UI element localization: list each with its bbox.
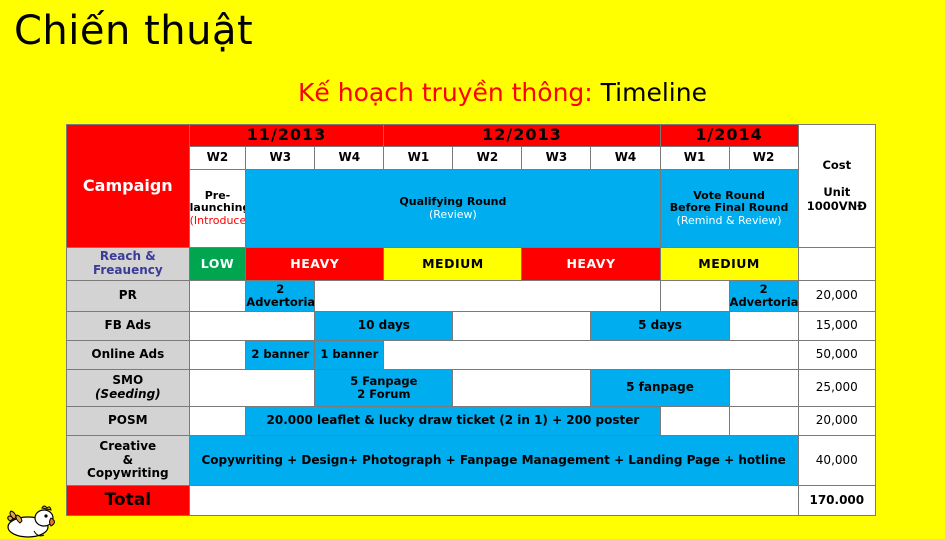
smo-cell-mid-empty [453, 370, 591, 407]
table-row: SMO (Seeding) 5 Fanpage 2 Forum 5 fanpag… [67, 370, 876, 407]
row-label-reach-frequency: Reach & Freauency [67, 248, 190, 281]
total-empty-cell [189, 486, 798, 516]
subtitle-vietnamese: Kế hoạch truyền thông: [298, 78, 593, 107]
smo-label-line2: (Seeding) [67, 388, 189, 402]
pr-cell-w2-nov [189, 281, 246, 312]
reach-frequency-line1: Reach & [67, 250, 189, 264]
month-header-11-2013: 11/2013 [189, 125, 384, 147]
media-plan-timeline-table: Campaign 11/2013 12/2013 1/2014 Cost Uni… [66, 124, 876, 516]
month-header-12-2013: 12/2013 [384, 125, 660, 147]
cost-online-ads: 50,000 [798, 341, 875, 370]
phase-vote-round-name2: Before Final Round [661, 202, 798, 215]
posm-cell-end-empty-2 [729, 407, 798, 436]
creative-label-line2: & [67, 454, 189, 468]
table-row: POSM 20.000 leaflet & lucky draw ticket … [67, 407, 876, 436]
month-header-1-2014: 1/2014 [660, 125, 798, 147]
frequency-cell-low: LOW [189, 248, 246, 281]
campaign-header-cell: Campaign [67, 125, 190, 248]
posm-bar-leaflet: 20.000 leaflet & lucky draw ticket (2 in… [246, 407, 660, 436]
phase-qualifying-round: Qualifying Round (Review) [246, 170, 660, 248]
cost-fb-ads: 15,000 [798, 312, 875, 341]
row-label-fb-ads: FB Ads [67, 312, 190, 341]
week-header-5: W3 [522, 147, 591, 170]
smo-bar-5-fanpage: 5 fanpage [591, 370, 729, 407]
month-header-row: Campaign 11/2013 12/2013 1/2014 Cost Uni… [67, 125, 876, 147]
pr-cell-mid-empty [315, 281, 660, 312]
week-header-4: W2 [453, 147, 522, 170]
online-cell-end-empty [384, 341, 798, 370]
phase-vote-round-sub: (Remind & Review) [661, 215, 798, 228]
pr-cell-w1-jan [660, 281, 729, 312]
chicken-icon [4, 505, 62, 539]
row-label-online-ads: Online Ads [67, 341, 190, 370]
table-row: FB Ads 10 days 5 days 15,000 [67, 312, 876, 341]
week-header-3: W1 [384, 147, 453, 170]
week-header-6: W4 [591, 147, 660, 170]
phase-pre-launching: Pre-launching (Introduce) [189, 170, 246, 248]
total-label: Total [67, 486, 190, 516]
cost-creative-copywriting: 40,000 [798, 436, 875, 486]
fb-cell-start-empty [189, 312, 315, 341]
creative-bar-full: Copywriting + Design+ Photograph + Fanpa… [189, 436, 798, 486]
frequency-cell-heavy-2: HEAVY [522, 248, 660, 281]
campaign-header-label: Campaign [67, 177, 189, 195]
week-header-0: W2 [189, 147, 246, 170]
week-header-2: W4 [315, 147, 384, 170]
week-header-8: W2 [729, 147, 798, 170]
reach-frequency-line2: Freauency [67, 264, 189, 278]
phase-qualifying-round-sub: (Review) [246, 209, 659, 222]
row-label-creative-copywriting: Creative & Copywriting [67, 436, 190, 486]
cost-header-title: Cost [799, 159, 875, 172]
fb-bar-5-days: 5 days [591, 312, 729, 341]
reach-frequency-row: Reach & Freauency LOW HEAVY MEDIUM HEAVY… [67, 248, 876, 281]
table-row: Online Ads 2 banner 1 banner 50,000 [67, 341, 876, 370]
online-bar-2-banner: 2 banner [246, 341, 315, 370]
cost-header-cell: Cost Unit 1000VNĐ [798, 125, 875, 248]
cost-posm: 20,000 [798, 407, 875, 436]
posm-cell-start-empty [189, 407, 246, 436]
online-bar-1-banner: 1 banner [315, 341, 384, 370]
creative-label-line1: Creative [67, 440, 189, 454]
posm-cell-end-empty-1 [660, 407, 729, 436]
phase-pre-launching-sub: (Introduce) [190, 215, 246, 228]
creative-label-line3: Copywriting [67, 467, 189, 481]
subtitle-english: Timeline [593, 78, 707, 107]
smo-bar-1-line2: 2 Forum [315, 388, 452, 401]
row-label-pr: PR [67, 281, 190, 312]
row-label-smo: SMO (Seeding) [67, 370, 190, 407]
cost-header-unit: Unit [823, 185, 850, 199]
smo-cell-end-empty [729, 370, 798, 407]
frequency-cell-medium-1: MEDIUM [384, 248, 522, 281]
cost-pr: 20,000 [798, 281, 875, 312]
phase-pre-launching-name: Pre-launching [190, 190, 246, 215]
total-cost: 170.000 [798, 486, 875, 516]
pr-bar-2-type: Advertorial [730, 296, 798, 309]
page-subtitle: Kế hoạch truyền thông: Timeline [0, 78, 945, 107]
phase-qualifying-round-name: Qualifying Round [246, 196, 659, 209]
week-header-1: W3 [246, 147, 315, 170]
smo-bar-fanpage-forum: 5 Fanpage 2 Forum [315, 370, 453, 407]
timeline-table-wrapper: Campaign 11/2013 12/2013 1/2014 Cost Uni… [66, 124, 876, 516]
frequency-cell-medium-2: MEDIUM [660, 248, 798, 281]
page-title: Chiến thuật [14, 8, 253, 54]
smo-label-line1: SMO [67, 374, 189, 388]
fb-cell-end-empty [729, 312, 798, 341]
fb-cell-mid-empty [453, 312, 591, 341]
cost-header-currency: 1000VNĐ [807, 199, 867, 213]
frequency-cell-heavy-1: HEAVY [246, 248, 384, 281]
frequency-cost-empty [798, 248, 875, 281]
phase-vote-round: Vote Round Before Final Round (Remind & … [660, 170, 798, 248]
smo-cell-start-empty [189, 370, 315, 407]
table-row: PR 2 Advertorial 2 Advertorial 20,000 [67, 281, 876, 312]
week-header-7: W1 [660, 147, 729, 170]
row-label-posm: POSM [67, 407, 190, 436]
online-cell-start-empty [189, 341, 246, 370]
total-row: Total 170.000 [67, 486, 876, 516]
pr-bar-advertorial-1: 2 Advertorial [246, 281, 315, 312]
fb-bar-10-days: 10 days [315, 312, 453, 341]
pr-bar-advertorial-2: 2 Advertorial [729, 281, 798, 312]
cost-smo: 25,000 [798, 370, 875, 407]
table-row: Creative & Copywriting Copywriting + Des… [67, 436, 876, 486]
pr-bar-1-type: Advertorial [246, 296, 314, 309]
